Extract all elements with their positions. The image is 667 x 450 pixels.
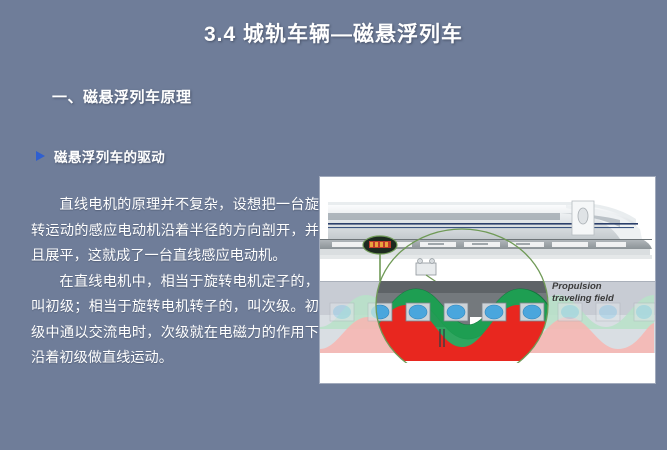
sub-heading-label: 磁悬浮列车的驱动 (54, 146, 165, 166)
section-heading: 一、磁悬浮列车原理 (52, 86, 192, 107)
body-text-block: 直线电机的原理并不复杂，设想把一台旋转运动的感应电动机沿着半径的方向剖开，并且展… (31, 193, 319, 372)
presentation-slide: 3.4 城轨车辆—磁悬浮列车 一、磁悬浮列车原理 磁悬浮列车的驱动 直线电机的原… (0, 0, 667, 450)
arrow-right-icon (36, 151, 45, 161)
paragraph-2: 在直线电机中，相当于旋转电机定子的，叫初级；相当于旋转电机转子的，叫次级。初级中… (31, 270, 319, 372)
page-title: 3.4 城轨车辆—磁悬浮列车 (0, 18, 667, 48)
propulsion-label-line2: traveling field (552, 293, 614, 304)
propulsion-label-line1: Propulsion (552, 281, 602, 292)
sub-heading: 磁悬浮列车的驱动 (36, 146, 165, 166)
paragraph-1: 直线电机的原理并不复杂，设想把一台旋转运动的感应电动机沿着半径的方向剖开，并且展… (31, 193, 319, 270)
maglev-propulsion-figure: Propulsion traveling field (320, 177, 655, 383)
